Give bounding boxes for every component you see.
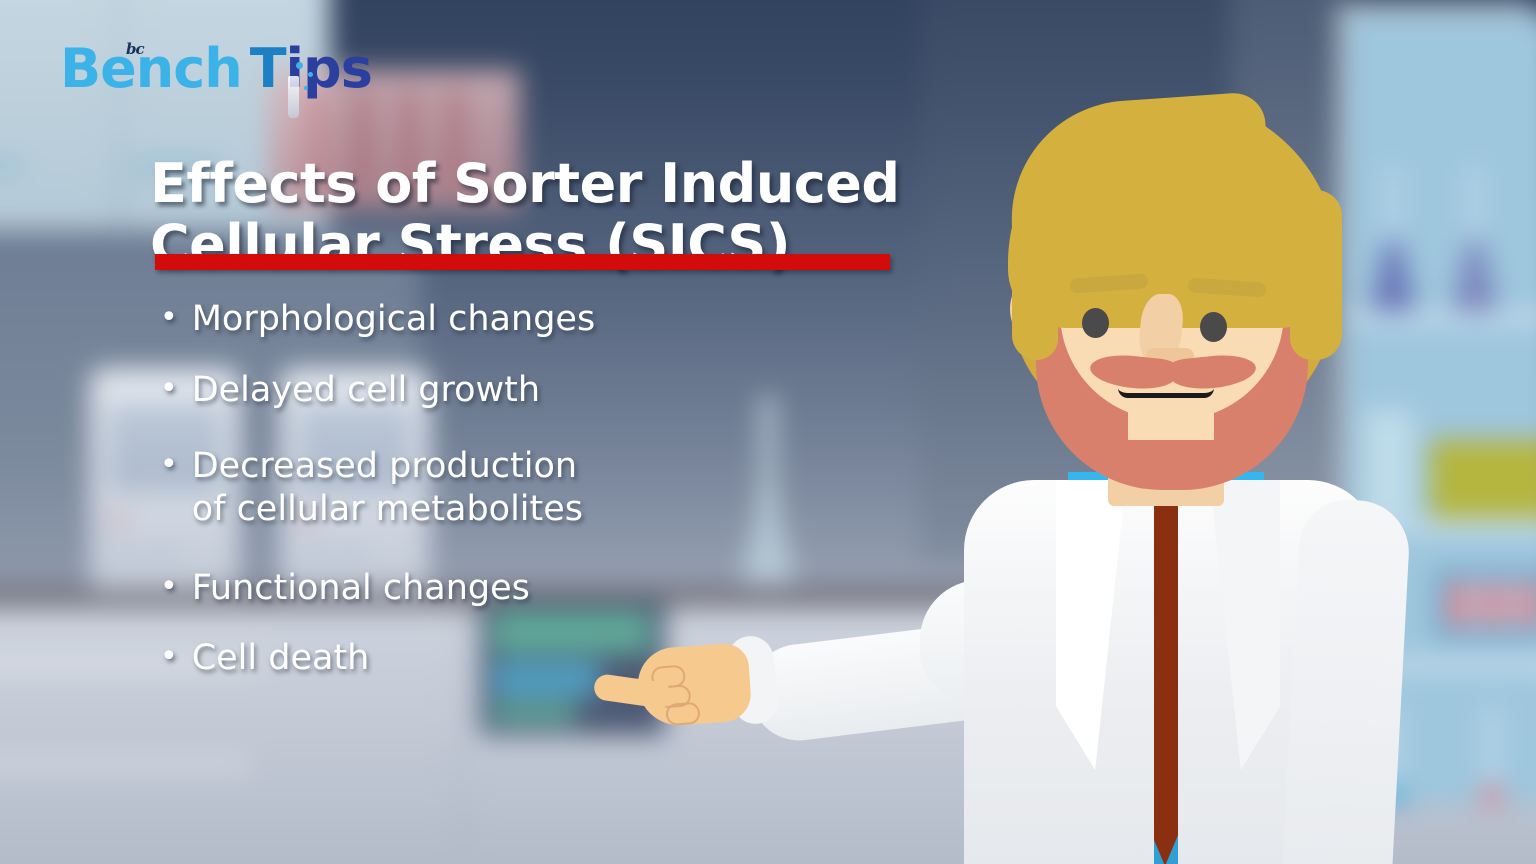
bullet-text: Functional changes bbox=[192, 567, 880, 610]
brand-tips-t: T bbox=[250, 37, 286, 100]
list-item: • Delayed cell growth bbox=[160, 369, 880, 412]
brand-word-tips: Tips bbox=[250, 37, 372, 100]
list-item: • Decreased production of cellular metab… bbox=[160, 445, 880, 530]
bullet-marker: • bbox=[160, 445, 178, 486]
bullet-marker: • bbox=[160, 567, 178, 608]
bullet-text: Decreased production of cellular metabol… bbox=[192, 445, 752, 530]
brand-small-mark: bc bbox=[126, 42, 144, 57]
title-line-1: Effects of Sorter Induced bbox=[150, 154, 990, 214]
bullet-text: Morphological changes bbox=[192, 298, 880, 341]
bullet-marker: • bbox=[160, 369, 178, 410]
brand-word-bench: Bench bbox=[60, 37, 242, 100]
pipette-icon bbox=[288, 76, 299, 118]
bullet-text-line-1: Decreased production bbox=[192, 446, 577, 486]
bullet-marker: • bbox=[160, 637, 178, 678]
droplet-icon bbox=[304, 86, 308, 90]
droplet-icon bbox=[296, 62, 303, 69]
slide-canvas: BenchTips bc Effects of Sorter Induced C… bbox=[0, 0, 1536, 864]
bullet-text-line-2: of cellular metabolites bbox=[192, 489, 583, 529]
slide-content: BenchTips bc Effects of Sorter Induced C… bbox=[0, 0, 1536, 864]
bullet-list: • Morphological changes • Delayed cell g… bbox=[160, 298, 880, 706]
title-accent-bar bbox=[155, 254, 890, 270]
droplet-icon bbox=[308, 72, 313, 77]
list-item: • Functional changes bbox=[160, 567, 880, 610]
bullet-text: Delayed cell growth bbox=[192, 369, 880, 412]
list-item: • Cell death bbox=[160, 637, 880, 680]
brand-logo[interactable]: BenchTips bc bbox=[60, 42, 380, 104]
list-item: • Morphological changes bbox=[160, 298, 880, 341]
bullet-text: Cell death bbox=[192, 637, 880, 680]
bullet-marker: • bbox=[160, 298, 178, 339]
